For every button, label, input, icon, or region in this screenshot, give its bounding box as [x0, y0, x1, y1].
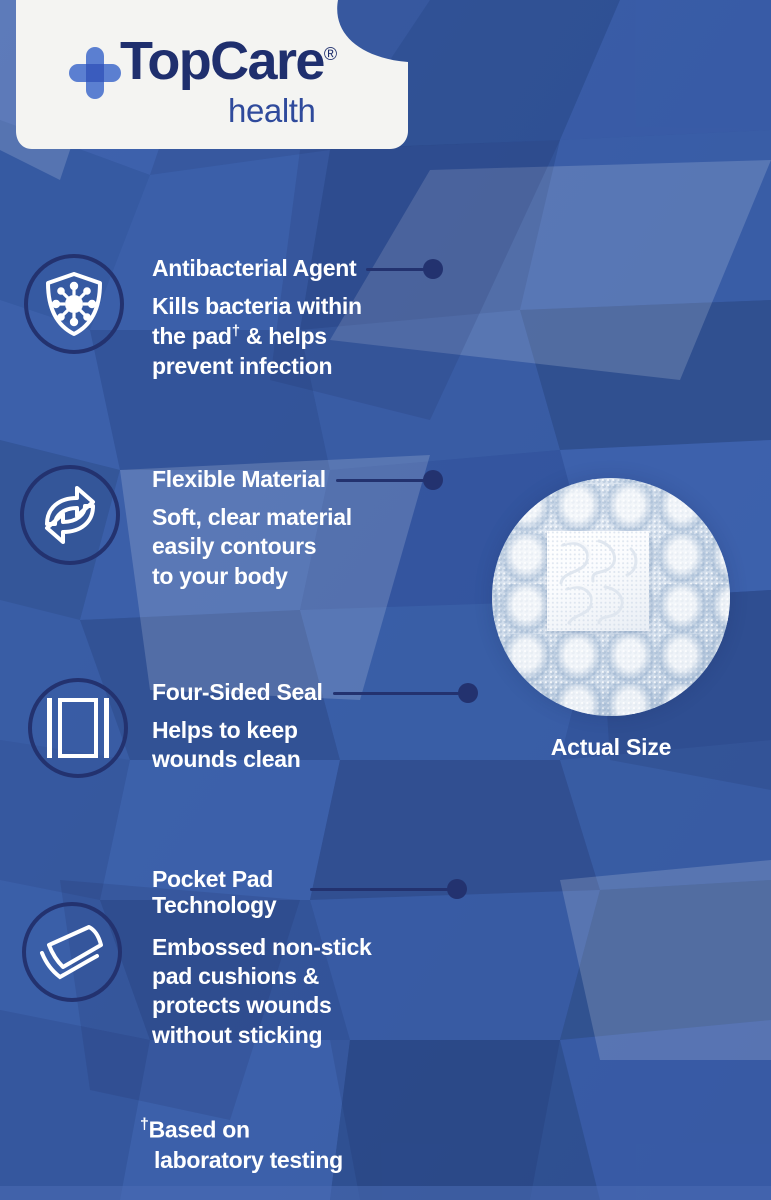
- footnote-line-2: laboratory testing: [140, 1146, 343, 1176]
- shield-germ-icon-badge: [24, 254, 124, 354]
- title-line: Pocket Pad: [152, 866, 273, 892]
- dagger-marker: †: [232, 322, 240, 339]
- title-connector: [366, 259, 443, 279]
- feature-description: Kills bacteria within the pad† & helps p…: [152, 292, 552, 381]
- logo-wordmark: TopCare® health: [120, 34, 337, 127]
- medical-cross-icon: [69, 47, 121, 99]
- feature-title: Four-Sided Seal: [152, 680, 323, 706]
- title-line: Technology: [152, 892, 276, 918]
- title-connector: [336, 470, 443, 490]
- feature-title: Flexible Material: [152, 467, 326, 493]
- desc-line: to your body: [152, 563, 288, 589]
- feature-title: Pocket Pad Technology: [152, 867, 310, 919]
- pad-emboss-pattern: [547, 531, 649, 631]
- desc-line: Helps to keep: [152, 717, 298, 743]
- logo-top-text: TopCare: [120, 31, 324, 91]
- bandage-closeup-image: [492, 478, 730, 716]
- feature-body: Pocket Pad Technology Embossed non-stick…: [152, 867, 552, 1050]
- desc-line: Soft, clear material: [152, 504, 352, 530]
- desc-line: without sticking: [152, 1022, 322, 1048]
- feature-description: Embossed non-stick pad cushions & protec…: [152, 933, 552, 1051]
- actual-size-product: Actual Size: [492, 478, 730, 761]
- brand-logo-card: TopCare® health: [16, 0, 408, 149]
- desc-line: Embossed non-stick: [152, 934, 372, 960]
- connector-dot: [423, 470, 443, 490]
- flex-arrows-icon: [37, 482, 103, 548]
- shield-germ-icon: [43, 271, 105, 337]
- desc-line: prevent infection: [152, 353, 332, 379]
- desc-line: wounds clean: [152, 746, 300, 772]
- four-sided-seal-icon-badge: [28, 678, 128, 778]
- flex-arrows-icon-badge: [20, 465, 120, 565]
- title-connector: [333, 683, 478, 703]
- desc-line: Kills bacteria within: [152, 293, 362, 319]
- product-feature-panel: TopCare® health: [0, 0, 771, 1200]
- connector-dot: [423, 259, 443, 279]
- actual-size-label: Actual Size: [492, 734, 730, 761]
- layered-pad-icon: [37, 923, 107, 981]
- connector-dot: [447, 879, 467, 899]
- desc-line-2: the pad† & helps: [152, 323, 327, 349]
- footnote-line-1: Based on: [149, 1117, 250, 1143]
- registered-trademark-icon: ®: [324, 44, 337, 64]
- connector-dot: [458, 683, 478, 703]
- bottom-accent-strip: [0, 1186, 771, 1200]
- absorbent-pad: [547, 531, 649, 631]
- feature-body: Antibacterial Agent Kills bacteria withi…: [152, 254, 552, 381]
- logo-sub-text: health: [228, 94, 337, 127]
- layered-pad-icon-badge: [22, 902, 122, 1002]
- feature-title: Antibacterial Agent: [152, 256, 356, 282]
- desc-line: easily contours: [152, 533, 316, 559]
- title-connector: [310, 879, 467, 899]
- footnote-text: †Based on laboratory testing: [140, 1115, 343, 1175]
- desc-line: pad cushions &: [152, 963, 319, 989]
- desc-line: protects wounds: [152, 992, 332, 1018]
- dagger-marker: †: [140, 1116, 149, 1133]
- four-sided-seal-icon: [44, 696, 112, 760]
